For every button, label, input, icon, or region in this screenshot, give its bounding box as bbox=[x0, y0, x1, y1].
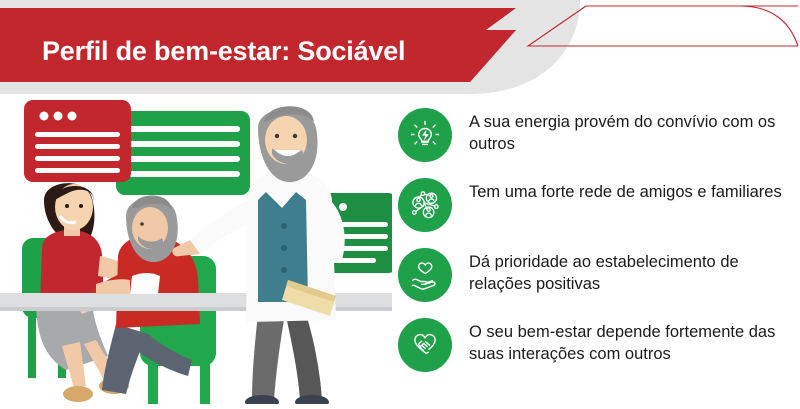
list-item[interactable]: O seu bem-estar depende fortemente das s… bbox=[398, 318, 789, 372]
header-outline-curve bbox=[740, 6, 798, 46]
lightbulb-icon bbox=[398, 108, 452, 162]
list-item-label: Dá prioridade ao estabelecimento de rela… bbox=[469, 248, 789, 295]
list-item[interactable]: A sua energia provém do convívio com os … bbox=[398, 108, 789, 162]
list-item[interactable]: Dá prioridade ao estabelecimento de rela… bbox=[398, 248, 789, 302]
page-title: Perfil de bem-estar: Sociável bbox=[42, 36, 405, 67]
speech-bubble-green-1 bbox=[116, 111, 250, 195]
handshake-heart-icon bbox=[398, 318, 452, 372]
poster-canvas: Perfil de bem-estar: Sociável bbox=[0, 0, 800, 404]
header-banner: Perfil de bem-estar: Sociável bbox=[0, 0, 800, 100]
list-item-label: O seu bem-estar depende fortemente das s… bbox=[469, 318, 789, 365]
speech-bubble-red bbox=[24, 100, 131, 182]
people-meeting-illustration bbox=[0, 88, 392, 404]
list-item[interactable]: Tem uma forte rede de amigos e familiare… bbox=[398, 178, 782, 232]
list-item-label: Tem uma forte rede de amigos e familiare… bbox=[469, 178, 782, 203]
bullet-list: A sua energia provém do convívio com os … bbox=[396, 100, 800, 400]
heart-in-hand-icon bbox=[398, 248, 452, 302]
illustration-svg bbox=[0, 88, 392, 404]
people-network-icon bbox=[398, 178, 452, 232]
list-item-label: A sua energia provém do convívio com os … bbox=[469, 108, 789, 155]
